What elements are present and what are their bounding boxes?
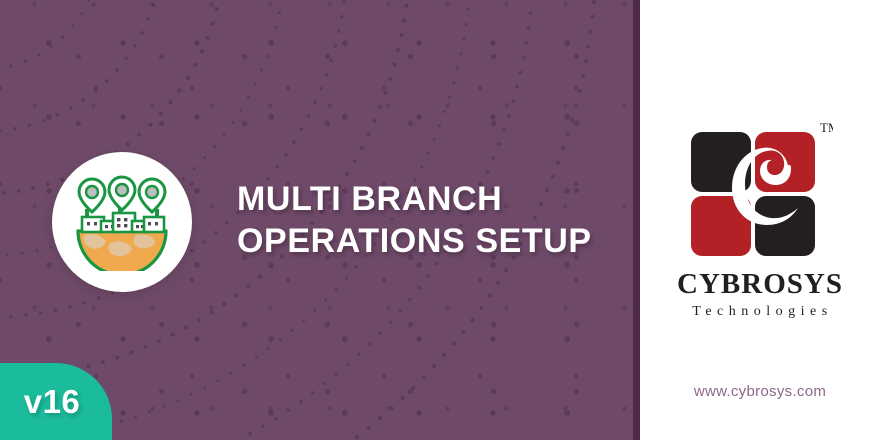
multi-branch-globe-icon — [72, 173, 172, 271]
banner-title: MULTI BRANCH OPERATIONS SETUP — [237, 178, 627, 262]
brand-subtitle: Technologies — [640, 304, 880, 320]
cybrosys-logo-icon: TM — [687, 118, 833, 258]
brand-name: CYBROSYS — [640, 268, 880, 301]
title-line-2: OPERATIONS SETUP — [237, 220, 627, 262]
trademark-symbol: TM — [820, 120, 833, 135]
left-purple-panel: MULTI BRANCH OPERATIONS SETUP v16 — [0, 0, 633, 440]
website-url: www.cybrosys.com — [640, 383, 880, 400]
panel-divider-stripe — [633, 0, 640, 440]
feature-icon-circle — [52, 152, 192, 292]
version-badge-label: v16 — [0, 383, 104, 421]
title-line-1: MULTI BRANCH — [237, 178, 627, 220]
promo-banner: MULTI BRANCH OPERATIONS SETUP v16 TM — [0, 0, 880, 440]
right-white-panel: TM CYBROSYS Technologies www.cybrosys.co… — [640, 0, 880, 440]
brand-block: TM CYBROSYS Technologies — [640, 118, 880, 320]
